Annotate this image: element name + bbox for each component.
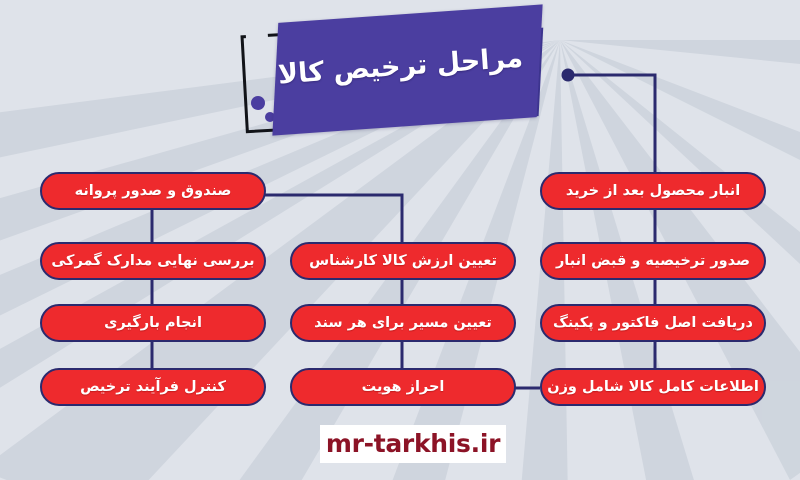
- node-l3[interactable]: انجام بارگیری: [40, 304, 266, 342]
- node-label: اطلاعات کامل کالا شامل وزن: [547, 379, 759, 395]
- node-r2[interactable]: صدور ترخیصیه و قبض انبار: [540, 242, 766, 280]
- node-m2[interactable]: تعیین مسیر برای هر سند: [290, 304, 516, 342]
- node-label: انجام بارگیری: [104, 315, 202, 331]
- banner-frame-notch: [246, 29, 269, 46]
- node-r4[interactable]: اطلاعات کامل کالا شامل وزن: [540, 368, 766, 406]
- node-l4[interactable]: کنترل فرآیند ترخیص: [40, 368, 266, 406]
- node-m1[interactable]: تعیین ارزش کالا کارشناس: [290, 242, 516, 280]
- node-label: احراز هویت: [362, 379, 445, 395]
- node-l2[interactable]: بررسی نهایی مدارک گمرکی: [40, 242, 266, 280]
- node-label: تعیین ارزش کالا کارشناس: [309, 253, 497, 269]
- node-label: کنترل فرآیند ترخیص: [80, 379, 226, 395]
- node-label: تعیین مسیر برای هر سند: [314, 315, 492, 331]
- flow-start-dot: [562, 69, 575, 82]
- node-label: بررسی نهایی مدارک گمرکی: [51, 253, 254, 269]
- node-r3[interactable]: دریافت اصل فاکتور و پکینگ: [540, 304, 766, 342]
- node-l1[interactable]: صندوق و صدور پروانه: [40, 172, 266, 210]
- node-label: صدور ترخیصیه و قبض انبار: [556, 253, 750, 269]
- node-label: دریافت اصل فاکتور و پکینگ: [553, 315, 753, 331]
- node-m3[interactable]: احراز هویت: [290, 368, 516, 406]
- node-r1[interactable]: انبار محصول بعد از خرید: [540, 172, 766, 210]
- infographic-canvas: مراحل ترخیص کالا انبار محصول بعد از خرید…: [0, 0, 800, 480]
- node-label: صندوق و صدور پروانه: [75, 183, 232, 199]
- footer-site-url[interactable]: mr-tarkhis.ir: [320, 425, 506, 463]
- node-label: انبار محصول بعد از خرید: [566, 183, 740, 199]
